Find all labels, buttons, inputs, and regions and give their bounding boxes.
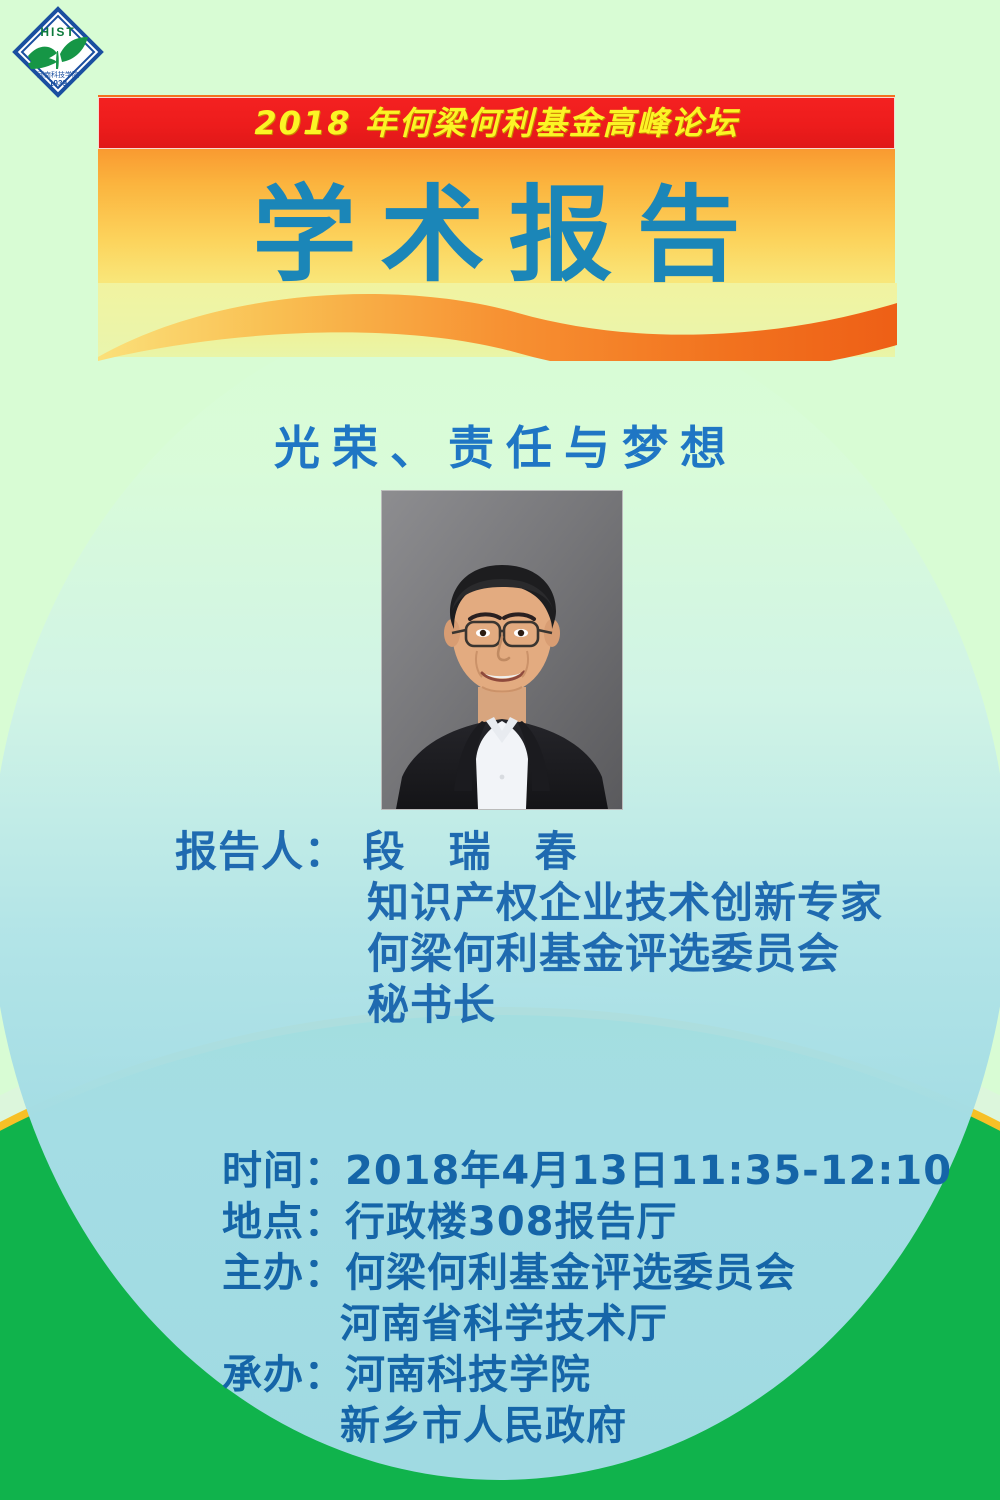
event-host-2: 河南省科学技术厅 (222, 1299, 1000, 1350)
svg-text:1939: 1939 (49, 79, 67, 88)
speaker-title-line-2: 何梁何利基金评选委员会 (175, 928, 975, 979)
poster-canvas: HIST 河南科技学院 1939 2018 年何梁何利基金高峰论坛 学术报告 (0, 0, 1000, 1500)
svg-text:河南科技学院: 河南科技学院 (37, 70, 79, 79)
speaker-title-line-3: 秘书长 (175, 979, 975, 1030)
school-logo: HIST 河南科技学院 1939 (12, 6, 104, 98)
portrait-illustration (382, 491, 622, 809)
event-organizer-1: 承办：河南科技学院 (222, 1350, 1000, 1401)
event-place: 地点：行政楼308报告厅 (222, 1197, 1000, 1248)
event-host-1: 主办：何梁何利基金评选委员会 (222, 1248, 1000, 1299)
speaker-portrait (382, 491, 622, 809)
event-time: 时间：2018年4月13日11:35-12:10 (222, 1146, 1000, 1197)
speaker-title-line-1: 知识产权企业技术创新专家 (175, 877, 975, 928)
poster-subtitle: 光荣、责任与梦想 (0, 412, 1000, 478)
main-title: 学术报告 (98, 150, 895, 300)
orange-wave-ribbon (98, 283, 897, 361)
wave-svg (98, 283, 897, 361)
event-details-block: 时间：2018年4月13日11:35-12:10 地点：行政楼308报告厅 主办… (222, 1146, 1000, 1452)
svg-text:HIST: HIST (40, 25, 75, 39)
speaker-info-block: 报告人： 段 瑞 春 知识产权企业技术创新专家 何梁何利基金评选委员会 秘书长 (175, 826, 975, 1030)
speaker-name-line: 报告人： 段 瑞 春 (175, 826, 975, 877)
forum-banner-text: 2018 年何梁何利基金高峰论坛 (98, 95, 895, 147)
hist-logo-icon: HIST 河南科技学院 1939 (12, 6, 104, 98)
event-organizer-2: 新乡市人民政府 (222, 1401, 1000, 1452)
